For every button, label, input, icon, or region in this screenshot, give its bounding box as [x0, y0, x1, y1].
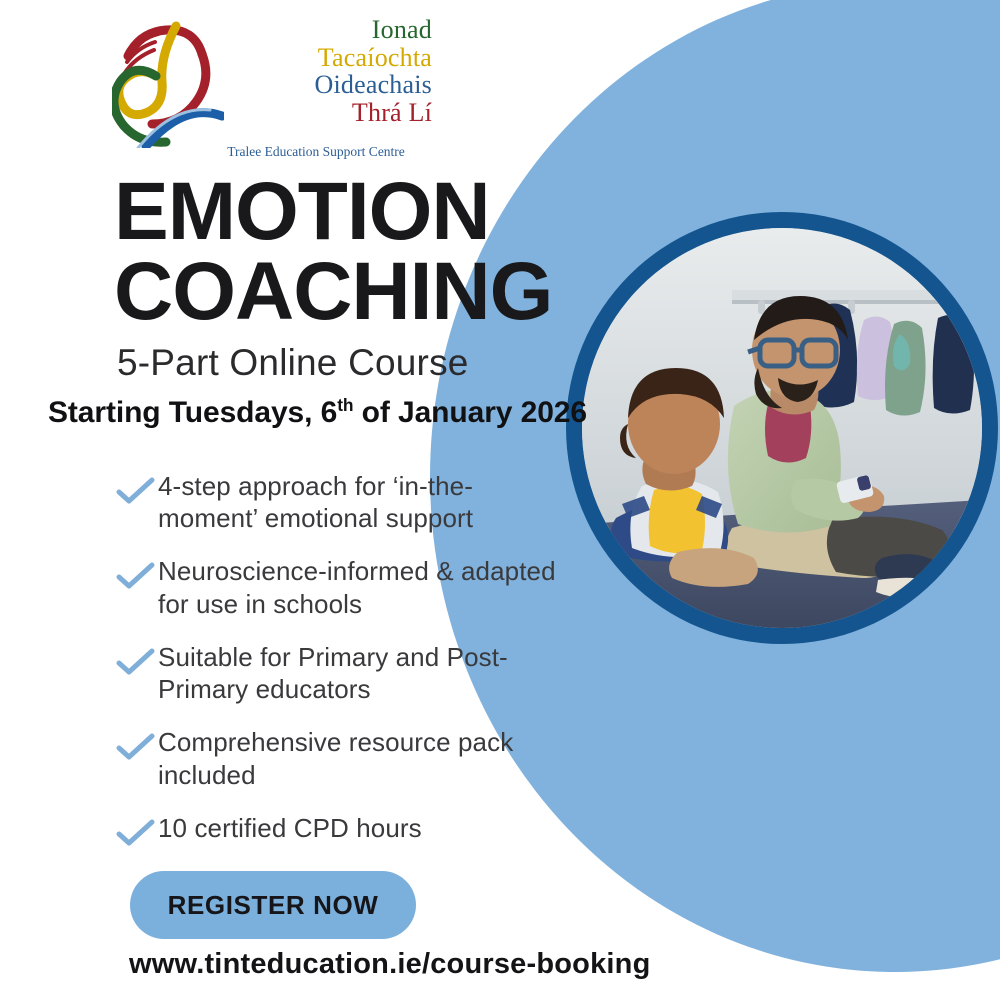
classroom-photo [582, 228, 982, 628]
list-item: Suitable for Primary and Post-Primary ed… [114, 641, 574, 705]
photo-ring [566, 212, 998, 644]
logo-tagline: Tralee Education Support Centre [200, 144, 432, 160]
booking-url[interactable]: www.tinteducation.ie/course-booking [129, 948, 651, 981]
start-date-ordinal: th [337, 395, 353, 415]
list-item-label: Comprehensive resource pack included [158, 726, 558, 790]
headline-line-2: COACHING [114, 252, 552, 332]
list-item-label: Neuroscience-informed & adapted for use … [158, 555, 558, 619]
check-icon [114, 818, 158, 848]
list-item-label: 10 certified CPD hours [158, 812, 422, 844]
headline-line-1: EMOTION [114, 172, 552, 252]
register-now-button[interactable]: REGISTER NOW [130, 871, 416, 939]
course-subtitle: 5-Part Online Course [117, 342, 469, 384]
register-now-label: REGISTER NOW [168, 890, 379, 921]
check-icon [114, 561, 158, 591]
list-item: 10 certified CPD hours [114, 812, 574, 848]
feature-list: 4-step approach for ‘in-the-moment’ emot… [114, 470, 574, 848]
check-icon [114, 732, 158, 762]
list-item: Comprehensive resource pack included [114, 726, 574, 790]
logo-wordmark: Ionad Tacaíochta Oideachais Thrá Lí [212, 16, 432, 126]
start-date-prefix: Starting Tuesdays, 6 [48, 396, 337, 429]
check-icon [114, 476, 158, 506]
list-item-label: Suitable for Primary and Post-Primary ed… [158, 641, 558, 705]
logo: Ionad Tacaíochta Oideachais Thrá Lí Tral… [112, 16, 432, 166]
poster-canvas: Ionad Tacaíochta Oideachais Thrá Lí Tral… [0, 0, 1000, 1000]
start-date-suffix: of January 2026 [353, 396, 587, 429]
list-item-label: 4-step approach for ‘in-the-moment’ emot… [158, 470, 558, 534]
list-item: 4-step approach for ‘in-the-moment’ emot… [114, 470, 574, 534]
logo-line-1: Ionad [212, 16, 432, 44]
logo-line-2: Tacaíochta [212, 44, 432, 72]
photo-circle [582, 228, 982, 628]
logo-line-3: Oideachais [212, 71, 432, 99]
check-icon [114, 647, 158, 677]
list-item: Neuroscience-informed & adapted for use … [114, 555, 574, 619]
page-title: EMOTION COACHING [114, 172, 552, 333]
logo-line-4: Thrá Lí [212, 99, 432, 127]
start-date-line: Starting Tuesdays, 6th of January 2026 [48, 396, 587, 430]
logo-swirl-icon [112, 20, 224, 148]
